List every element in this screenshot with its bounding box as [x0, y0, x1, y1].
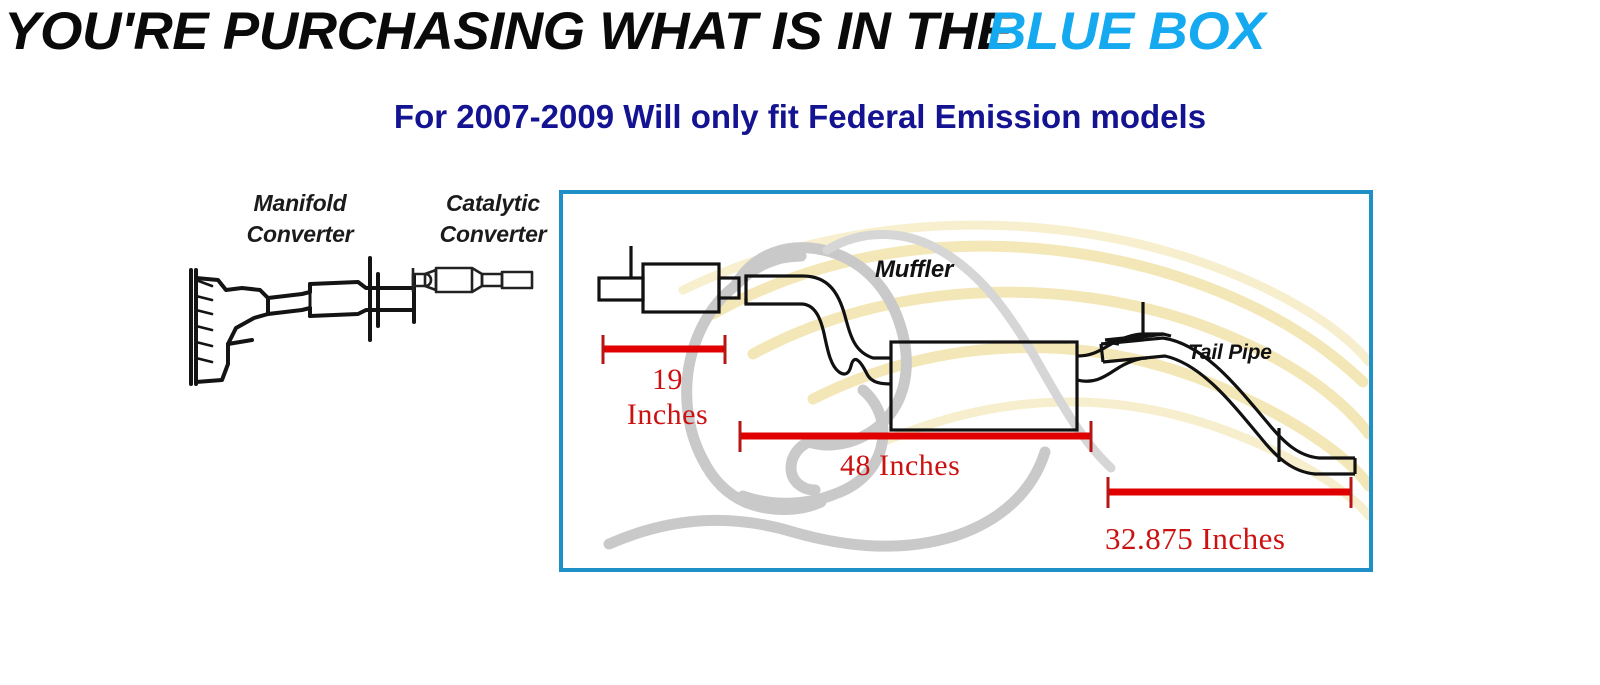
dimension-19-unit: Inches: [605, 397, 730, 432]
header-text-dark: YOU'RE PURCHASING WHAT IS IN THE: [0, 5, 1013, 58]
dimension-text-48: 48 Inches: [840, 449, 960, 483]
tail-pipe-label: Tail Pipe: [1188, 341, 1272, 365]
dimension-line-48: [740, 421, 1091, 452]
exhaust-system-listing-image: YOU'RE PURCHASING WHAT IS IN THE BLUE BO…: [0, 0, 1600, 685]
manifold-converter-label: Manifold Converter: [200, 188, 400, 250]
dimension-line-19: [603, 335, 725, 364]
dimension-19-value: 19: [605, 362, 730, 397]
manifold-converter-drawing: [182, 248, 422, 388]
fitment-subtitle: For 2007-2009 Will only fit Federal Emis…: [0, 98, 1600, 136]
dimension-text-19: 19 Inches: [605, 362, 730, 433]
excluded-parts-legend: Manifold Converter Catalytic Converter: [190, 188, 555, 398]
muffler-label: Muffler: [875, 256, 953, 284]
header-text-blue: BLUE BOX: [983, 5, 1265, 58]
manifold-label-line-2: Converter: [200, 219, 400, 250]
manifold-label-line-1: Manifold: [200, 188, 400, 219]
dimension-text-32875: 32.875 Inches: [1105, 521, 1285, 557]
header-banner: YOU'RE PURCHASING WHAT IS IN THE BLUE BO…: [0, 0, 1600, 62]
dimension-line-32875: [1108, 477, 1351, 508]
blue-box-included-parts: Muffler Tail Pipe 19 Inches 48 Inches 32…: [559, 190, 1373, 572]
catalytic-converter-drawing: [408, 250, 538, 310]
